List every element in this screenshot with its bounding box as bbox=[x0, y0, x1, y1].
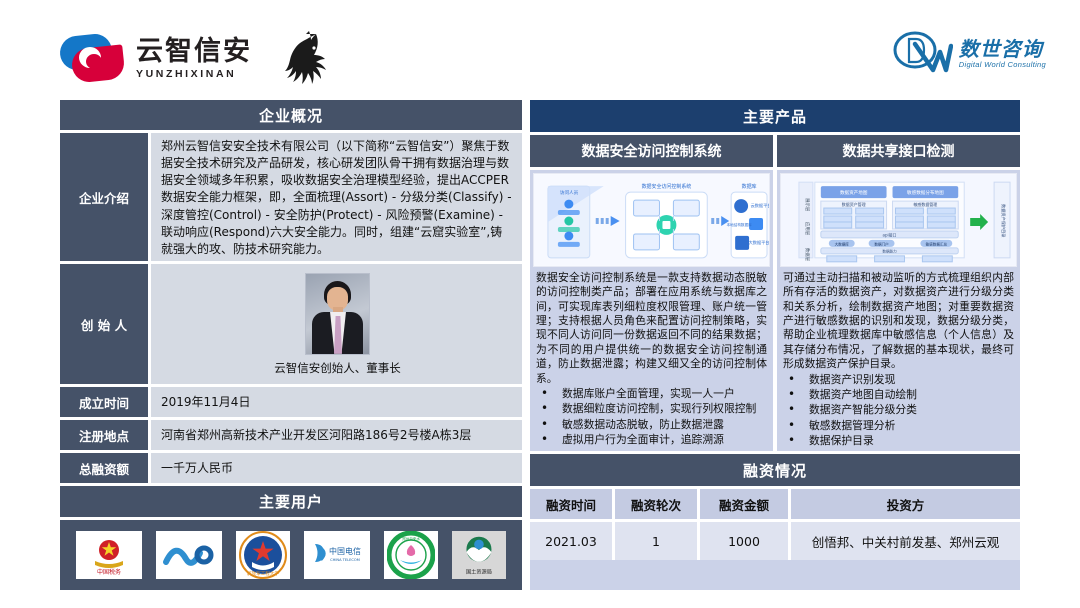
row-value-company-intro: 郑州云智信安安全技术有限公司（以下简称“云智信安”）聚焦于数据安全技术研究及产品… bbox=[148, 133, 522, 261]
row-label-total-funding: 总融资额 bbox=[60, 453, 148, 483]
company-info-table: 企业介绍 郑州云智信安安全技术有限公司（以下简称“云智信安”）聚焦于数据安全技术… bbox=[60, 133, 522, 483]
svg-text:数据能力: 数据能力 bbox=[882, 248, 897, 253]
svg-text:数据门户: 数据门户 bbox=[874, 241, 889, 246]
product-bullets-data-sharing-api: 数据资产识别发现 数据资产地图自动绘制 数据资产智能分级分类 敏感数据管理分析 … bbox=[783, 373, 1014, 449]
cell-investors: 创悟邦、中关村前发基、郑州云观 bbox=[791, 522, 1020, 560]
svg-text:应用层: 应用层 bbox=[804, 222, 811, 236]
column-header-round: 融资轮次 bbox=[615, 489, 700, 519]
top-logo-bar: 云智信安 YUNZHIXINAN 数世咨询 Digital Wo bbox=[0, 0, 1080, 98]
row-label-founder: 创 始 人 bbox=[60, 264, 148, 384]
product-title-access-control: 数据安全访问控制系统 bbox=[530, 135, 773, 167]
list-item: 数据资产识别发现 bbox=[783, 373, 1014, 387]
row-label-company-intro: 企业介绍 bbox=[60, 133, 148, 261]
list-item: 虚拟用户行为全面审计，追踪溯源 bbox=[536, 433, 767, 447]
cell-round: 1 bbox=[615, 522, 700, 560]
product-body-access-control: 数据安全访问控制系统是一款支持数据动态脱敏的访问控制类产品；部署在应用系统与数据… bbox=[530, 267, 773, 450]
row-value-total-funding: 一千万人民币 bbox=[148, 453, 522, 483]
product-title-data-sharing-api: 数据共享接口检测 bbox=[777, 135, 1020, 167]
column-header-date: 融资时间 bbox=[530, 489, 615, 519]
svg-text:CHINA TELECOM: CHINA TELECOM bbox=[330, 558, 360, 562]
right-column: 主要产品 数据安全访问控制系统 数据共享接口检测 访问人员 bbox=[530, 100, 1020, 590]
customer-logo-university-emblem: 解放军工程大学 bbox=[236, 531, 290, 579]
partner-name-en: Digital World Consulting bbox=[959, 61, 1046, 69]
partner-logo-right: 数世咨询 Digital World Consulting bbox=[891, 30, 1046, 78]
partner-name-cn: 数世咨询 bbox=[959, 39, 1046, 60]
section-header-main-users: 主要用户 bbox=[60, 486, 522, 516]
section-header-main-products: 主要产品 bbox=[530, 100, 1020, 132]
product-description-data-sharing-api: 可通过主动扫描和被动监听的方式梳理组织内部所有存活的数据资产，对数据资产进行分级… bbox=[783, 271, 1014, 372]
customer-logos-strip: 中国税务 解放军工程大学 bbox=[60, 520, 522, 590]
customer-logo-china-taxation: 中国税务 bbox=[76, 531, 142, 579]
svg-text:大数据库: 大数据库 bbox=[835, 241, 850, 246]
product-bullets-access-control: 数据库账户全面管理，实现一人一户 数据细粒度访问控制，实现行列权限控制 敏感数据… bbox=[536, 387, 767, 447]
financing-table: 融资时间 融资轮次 融资金额 投资方 2021.03 1 1000 创悟邦、中关… bbox=[530, 489, 1020, 590]
content-frame: 企业概况 企业介绍 郑州云智信安安全技术有限公司（以下简称“云智信安”）聚焦于数… bbox=[60, 100, 1020, 590]
swirl-logo-icon bbox=[60, 35, 126, 83]
svg-text:数据资产管理: 数据资产管理 bbox=[842, 202, 866, 207]
svg-text:中国电信: 中国电信 bbox=[329, 546, 361, 556]
list-item: 敏感数据管理分析 bbox=[783, 419, 1014, 433]
table-row: 总融资额 一千万人民币 bbox=[60, 453, 522, 483]
table-row: 成立时间 2019年11月4日 bbox=[60, 387, 522, 420]
list-item: 数据库账户全面管理，实现一人一户 bbox=[536, 387, 767, 401]
table-row: 注册地点 河南省郑州高新技术产业开发区河阳路186号2号楼A栋3层 bbox=[60, 420, 522, 453]
column-header-investors: 投资方 bbox=[791, 489, 1020, 519]
customer-logo-green-circular: 郑州自来水 bbox=[384, 531, 438, 579]
svg-text:解放军工程大学: 解放军工程大学 bbox=[247, 570, 280, 577]
data-asset-platform-architecture-diagram: 展示层 应用层 数据层 数据资产地图 敏感数据分布地图 数据资产管理 bbox=[780, 173, 1017, 267]
svg-text:敏感数据分布地图: 敏感数据分布地图 bbox=[907, 189, 944, 196]
company-logo-left: 云智信安 YUNZHIXINAN bbox=[60, 28, 332, 89]
product-body-data-sharing-api: 可通过主动扫描和被动监听的方式梳理组织内部所有存活的数据资产，对数据资产进行分级… bbox=[777, 267, 1020, 451]
svg-text:云数据平台: 云数据平台 bbox=[751, 202, 769, 208]
svg-text:访问人员: 访问人员 bbox=[560, 189, 579, 196]
cell-date: 2021.03 bbox=[530, 522, 615, 560]
product-card-access-control: 访问人员 数据安全访问控制系统 bbox=[530, 170, 773, 451]
row-value-founder: 云智信安创始人、董事长 bbox=[148, 264, 522, 384]
customer-logo-blue-wave bbox=[156, 531, 222, 579]
svg-text:数据安全访问控制系统: 数据安全访问控制系统 bbox=[642, 183, 692, 190]
table-row: 2021.03 1 1000 创悟邦、中关村前发基、郑州云观 bbox=[530, 522, 1020, 560]
founder-portrait-photo bbox=[305, 273, 370, 355]
svg-text:api接口: api接口 bbox=[883, 232, 897, 237]
column-header-amount: 融资金额 bbox=[700, 489, 791, 519]
svg-text:大数据平台: 大数据平台 bbox=[749, 239, 769, 245]
svg-text:中国税务: 中国税务 bbox=[97, 568, 121, 576]
product-card-data-sharing-api: 展示层 应用层 数据层 数据资产地图 敏感数据分布地图 数据资产管理 bbox=[777, 170, 1020, 451]
svg-text:数据库: 数据库 bbox=[742, 183, 757, 190]
customer-logo-china-telecom: 中国电信 CHINA TELECOM bbox=[304, 531, 370, 579]
svg-text:本地结构数据库: 本地结构数据库 bbox=[727, 222, 752, 227]
row-label-registered-address: 注册地点 bbox=[60, 420, 148, 450]
svg-text:敏感数据管理: 敏感数据管理 bbox=[913, 202, 937, 207]
svg-text:国土资源局: 国土资源局 bbox=[466, 567, 492, 575]
svg-text:数据资产地图: 数据资产地图 bbox=[840, 189, 868, 196]
row-label-founded-date: 成立时间 bbox=[60, 387, 148, 417]
table-header-row: 融资时间 融资轮次 融资金额 投资方 bbox=[530, 489, 1020, 522]
brand-name-en: YUNZHIXINAN bbox=[136, 68, 252, 80]
list-item: 数据细粒度访问控制，实现行列权限控制 bbox=[536, 402, 767, 416]
svg-text:展示层: 展示层 bbox=[804, 198, 810, 212]
brand-name-cn: 云智信安 bbox=[136, 38, 252, 65]
table-row: 创 始 人 云智信安创始人、董事长 bbox=[60, 264, 522, 387]
list-item: 数据保护目录 bbox=[783, 434, 1014, 448]
product-columns: 访问人员 数据安全访问控制系统 bbox=[530, 170, 1020, 451]
list-item: 数据资产地图自动绘制 bbox=[783, 388, 1014, 402]
founder-caption: 云智信安创始人、董事长 bbox=[274, 360, 401, 376]
slide-page: 云智信安 YUNZHIXINAN 数世咨询 Digital Wo bbox=[0, 0, 1080, 608]
svg-text:数据资产保护目录: 数据资产保护目录 bbox=[1001, 204, 1007, 237]
access-control-architecture-diagram: 访问人员 数据安全访问控制系统 bbox=[533, 173, 770, 267]
svg-text:敏感数据汇总: 敏感数据汇总 bbox=[926, 241, 948, 246]
product-headers-row: 数据安全访问控制系统 数据共享接口检测 bbox=[530, 135, 1020, 167]
svg-text:郑州自来水: 郑州自来水 bbox=[402, 536, 420, 541]
cell-amount: 1000 bbox=[700, 522, 791, 560]
row-value-founded-date: 2019年11月4日 bbox=[148, 387, 522, 417]
product-description-access-control: 数据安全访问控制系统是一款支持数据动态脱敏的访问控制类产品；部署在应用系统与数据… bbox=[536, 271, 767, 386]
left-column: 企业概况 企业介绍 郑州云智信安安全技术有限公司（以下简称“云智信安”）聚焦于数… bbox=[60, 100, 522, 590]
svg-text:数据层: 数据层 bbox=[804, 248, 811, 262]
section-header-company-overview: 企业概况 bbox=[60, 100, 522, 130]
customer-logo-land-resources-bureau: 国土资源局 bbox=[452, 531, 506, 579]
section-header-financing: 融资情况 bbox=[530, 454, 1020, 486]
horse-head-icon bbox=[276, 28, 332, 89]
list-item: 数据资产智能分级分类 bbox=[783, 403, 1014, 417]
table-row: 企业介绍 郑州云智信安安全技术有限公司（以下简称“云智信安”）聚焦于数据安全技术… bbox=[60, 133, 522, 264]
dw-monogram-icon bbox=[891, 30, 953, 78]
list-item: 敏感数据动态脱敏，防止数据泄露 bbox=[536, 418, 767, 432]
row-value-registered-address: 河南省郑州高新技术产业开发区河阳路186号2号楼A栋3层 bbox=[148, 420, 522, 450]
